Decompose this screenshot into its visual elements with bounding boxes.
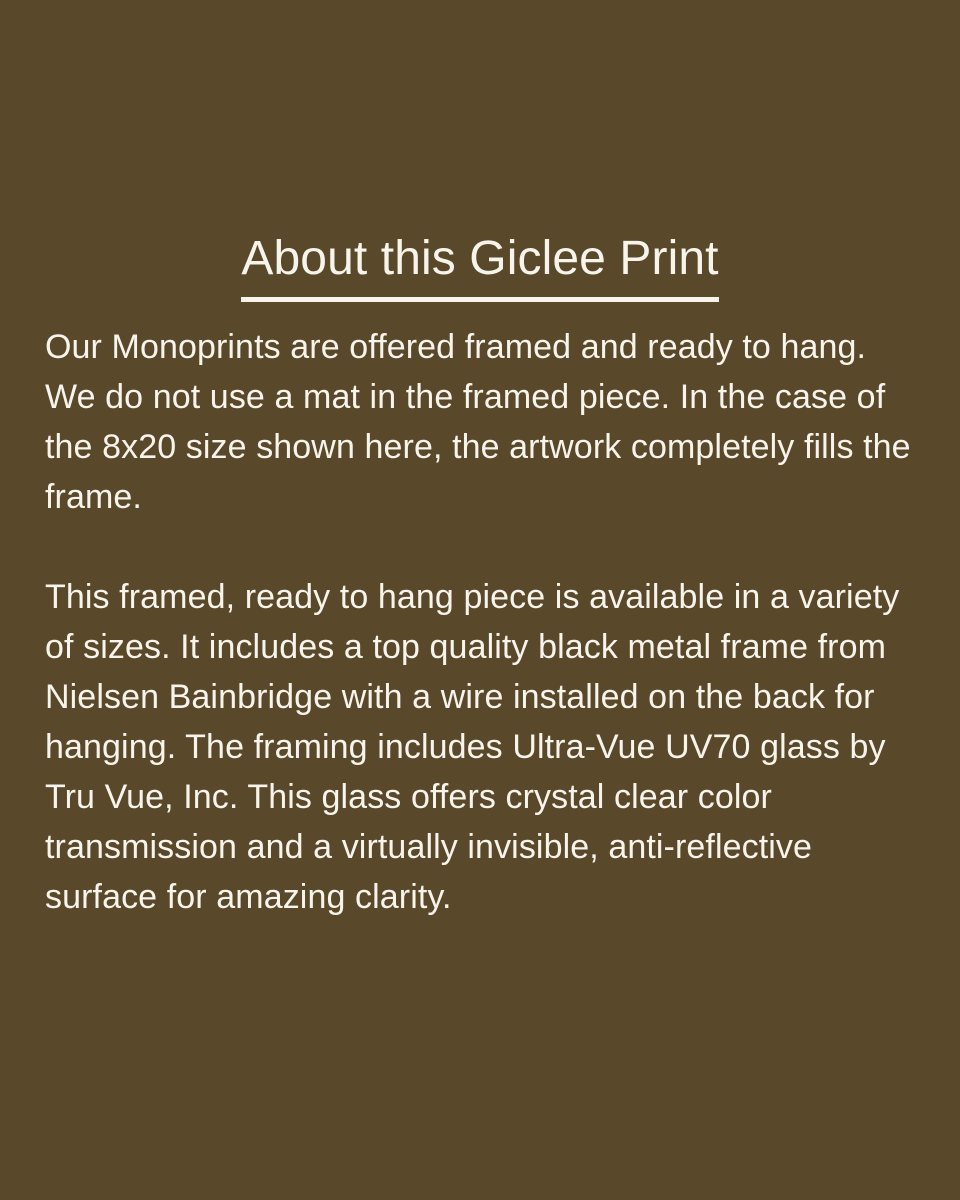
- description-paragraph-2: This framed, ready to hang piece is avai…: [45, 572, 921, 922]
- about-giclee-print-panel: About this Giclee Print Our Monoprints a…: [0, 0, 960, 1200]
- page-title: About this Giclee Print: [0, 228, 960, 302]
- page-title-text: About this Giclee Print: [241, 228, 718, 302]
- description-paragraph-1: Our Monoprints are offered framed and re…: [45, 322, 921, 522]
- description-body: Our Monoprints are offered framed and re…: [45, 322, 921, 922]
